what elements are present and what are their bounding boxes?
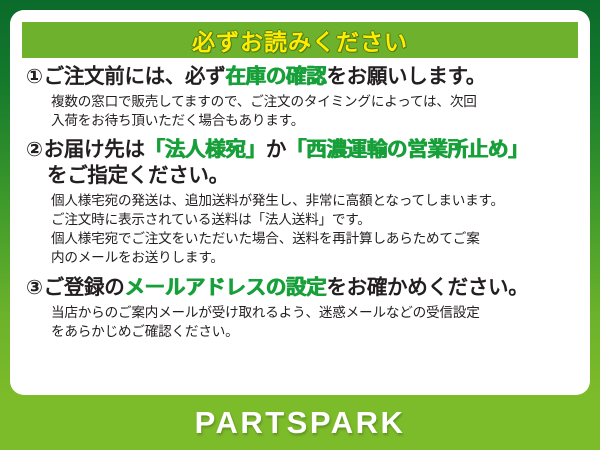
heading-highlight: メールアドレスの設定 xyxy=(124,276,326,299)
notice-item: ①ご注文前には、必ず在庫の確認をお願いします。複数の窓口で販売してますので、ご注… xyxy=(26,64,576,130)
notice-item: ③ご登録のメールアドレスの設定をお確かめください。当店からのご案内メールが受け取… xyxy=(26,275,576,341)
notice-list: ①ご注文前には、必ず在庫の確認をお願いします。複数の窓口で販売してますので、ご注… xyxy=(22,58,578,389)
title-bar: 必ずお読みください xyxy=(22,22,578,58)
notice-item: ②お届け先は「法人様宛」か「西濃運輸の営業所止め」をご指定ください。個人様宅宛の… xyxy=(26,137,576,267)
notice-body-line: 個人様宅宛でご注文をいただいた場合、送料を再計算しあらためてご案 xyxy=(51,229,576,248)
notice-item-body: 当店からのご案内メールが受け取れるよう、迷惑メールなどの受信設定をあらかじめご確… xyxy=(26,303,576,342)
notice-body-line: 内のメールをお送りします。 xyxy=(51,248,576,267)
notice-card: 必ずお読みください ①ご注文前には、必ず在庫の確認をお願いします。複数の窓口で販… xyxy=(10,10,590,395)
heading-text: ご登録の xyxy=(44,276,125,299)
heading-text: ご注文前には、必ず xyxy=(44,65,226,88)
notice-body-line: ご注文時に表示されている送料は「法人送料」です。 xyxy=(51,210,576,229)
heading-text: お届け先は xyxy=(44,138,145,161)
notice-item-heading: ②お届け先は「法人様宛」か「西濃運輸の営業所止め」 xyxy=(26,137,576,163)
heading-highlight: 「西濃運輸の営業所止め」 xyxy=(286,138,528,161)
notice-banner: 必ずお読みください ①ご注文前には、必ず在庫の確認をお願いします。複数の窓口で販… xyxy=(0,0,600,450)
notice-item-number: ③ xyxy=(26,277,43,299)
notice-body-line: 入荷をお待ち頂いただく場合もあります。 xyxy=(51,111,576,130)
notice-body-line: 複数の窓口で販売してますので、ご注文のタイミングによっては、次回 xyxy=(51,92,576,111)
brand-name: PARTSPARK xyxy=(195,405,406,441)
notice-item-heading-line2: をご指定ください。 xyxy=(26,163,576,188)
notice-item-heading: ①ご注文前には、必ず在庫の確認をお願いします。 xyxy=(26,64,576,90)
heading-text: をお確かめください。 xyxy=(326,276,528,299)
notice-item-number: ① xyxy=(26,66,43,88)
notice-title: 必ずお読みください xyxy=(192,23,408,57)
notice-body-line: 個人様宅宛の発送は、追加送料が発生し、非常に高額となってしまいます。 xyxy=(51,191,576,210)
heading-text: をお願いします。 xyxy=(326,65,486,88)
notice-item-number: ② xyxy=(26,139,43,161)
notice-item-body: 個人様宅宛の発送は、追加送料が発生し、非常に高額となってしまいます。ご注文時に表… xyxy=(26,191,576,268)
notice-body-line: をあらかじめご確認ください。 xyxy=(51,322,576,341)
notice-item-heading: ③ご登録のメールアドレスの設定をお確かめください。 xyxy=(26,275,576,301)
heading-highlight: 「法人様宛」 xyxy=(145,138,266,161)
footer-bar: PARTSPARK xyxy=(10,395,590,450)
notice-body-line: 当店からのご案内メールが受け取れるよう、迷惑メールなどの受信設定 xyxy=(51,303,576,322)
heading-text: か xyxy=(266,138,286,161)
heading-highlight: 在庫の確認 xyxy=(225,65,326,88)
notice-item-body: 複数の窓口で販売してますので、ご注文のタイミングによっては、次回入荷をお待ち頂い… xyxy=(26,92,576,131)
